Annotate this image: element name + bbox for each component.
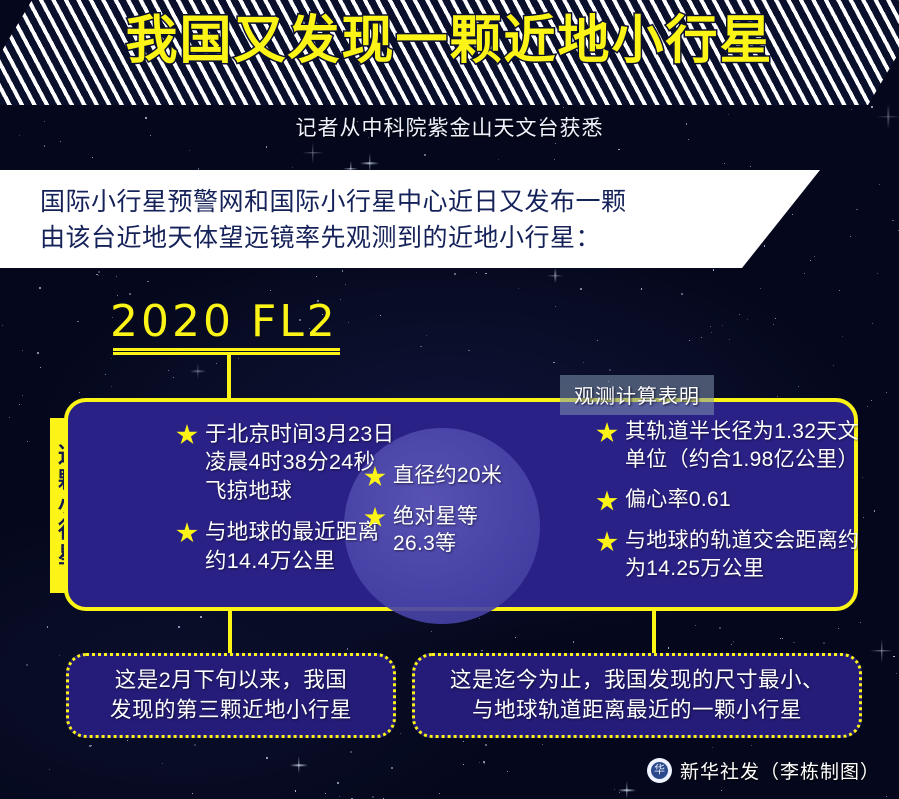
page-title: 我国又发现一颗近地小行星 — [0, 12, 899, 72]
star-bullet-icon — [364, 507, 386, 529]
footer: 华 新华社发（李栋制图） — [0, 757, 880, 784]
connector-line-right — [652, 611, 656, 655]
designation-underline — [113, 348, 340, 355]
asteroid-designation: 2020 FL2 — [110, 296, 338, 347]
fact-item: 与地球的轨道交会距离约 为14.25万公里 — [596, 527, 899, 582]
star-bullet-icon — [596, 490, 618, 512]
fact-text: 偏心率0.61 — [625, 486, 731, 514]
conclusion-text: 这是迄今为止，我国发现的尺寸最小、 与地球轨道距离最近的一颗小行星 — [450, 666, 824, 724]
connector-line-left — [228, 611, 232, 655]
fact-text: 其轨道半长径为1.32天文 单位（约合1.98亿公里） — [625, 418, 859, 473]
star-bullet-icon — [176, 522, 198, 544]
fact-text: 绝对星等 26.3等 — [393, 503, 478, 558]
xinhua-logo-icon: 华 — [647, 758, 672, 783]
center-facts-column: 直径约20米 绝对星等 26.3等 — [364, 462, 534, 571]
main-facts-box: 观测计算表明 于北京时间3月23日 凌晨4时38分24秒 飞掠地球 与地球的最近… — [64, 398, 858, 611]
star-bullet-icon — [596, 422, 618, 444]
fact-item: 偏心率0.61 — [596, 486, 899, 514]
conclusion-box-right: 这是迄今为止，我国发现的尺寸最小、 与地球轨道距离最近的一颗小行星 — [412, 653, 862, 738]
conclusion-box-left: 这是2月下旬以来，我国 发现的第三颗近地小行星 — [66, 653, 396, 738]
footer-credit: 新华社发（李栋制图） — [680, 757, 880, 784]
calculation-tag: 观测计算表明 — [560, 375, 714, 415]
page-subtitle: 记者从中科院紫金山天文台获悉 — [0, 112, 899, 142]
intro-text: 国际小行星预警网和国际小行星中心近日又发布一颗 由该台近地天体望远镜率先观测到的… — [40, 184, 740, 257]
fact-item: 直径约20米 — [364, 462, 534, 490]
fact-item: 其轨道半长径为1.32天文 单位（约合1.98亿公里） — [596, 418, 899, 473]
fact-item: 绝对星等 26.3等 — [364, 503, 534, 558]
fact-text: 直径约20米 — [393, 462, 502, 490]
intro-banner: 国际小行星预警网和国际小行星中心近日又发布一颗 由该台近地天体望远镜率先观测到的… — [0, 170, 820, 268]
right-facts-column: 其轨道半长径为1.32天文 单位（约合1.98亿公里） 偏心率0.61 与地球的… — [596, 418, 899, 596]
fact-text: 与地球的最近距离 约14.4万公里 — [205, 518, 379, 575]
star-bullet-icon — [596, 531, 618, 553]
infographic-canvas: 我国又发现一颗近地小行星 记者从中科院紫金山天文台获悉 国际小行星预警网和国际小… — [0, 0, 899, 799]
fact-text: 与地球的轨道交会距离约 为14.25万公里 — [625, 527, 859, 582]
designation-connector-line — [227, 355, 231, 400]
star-bullet-icon — [176, 424, 198, 446]
xinhua-logo-mark: 华 — [654, 765, 665, 776]
conclusion-text: 这是2月下旬以来，我国 发现的第三颗近地小行星 — [110, 666, 352, 724]
star-bullet-icon — [364, 466, 386, 488]
